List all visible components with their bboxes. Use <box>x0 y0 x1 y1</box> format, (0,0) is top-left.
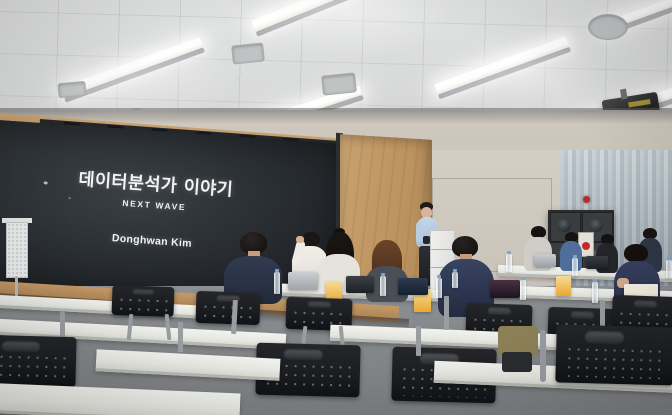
ceiling-speaker <box>588 14 628 40</box>
water-bottle <box>506 254 512 272</box>
side-lectern <box>6 218 28 296</box>
laptop <box>534 254 556 267</box>
projector-vent <box>628 99 651 107</box>
tote-bag <box>556 276 571 296</box>
laptop <box>398 278 428 295</box>
laptop <box>288 272 318 290</box>
chair[interactable] <box>195 291 260 325</box>
attendee-hand <box>296 236 304 243</box>
water-bottle <box>520 280 526 300</box>
chair[interactable] <box>0 335 77 387</box>
water-bottle <box>274 272 280 294</box>
attendee-seated-lower-right <box>498 326 538 376</box>
water-bottle <box>592 282 598 303</box>
laptop <box>490 280 520 298</box>
fire-alarm-bell-icon <box>583 196 590 203</box>
presenter-hand-mic <box>423 236 430 244</box>
ceiling-vent <box>57 81 86 98</box>
lectern-body <box>6 222 28 278</box>
chair[interactable] <box>111 285 174 317</box>
laptop <box>346 276 374 293</box>
lectern-leg <box>15 276 18 296</box>
water-bottle <box>572 258 578 276</box>
water-bottle <box>380 276 386 296</box>
laptop <box>586 256 608 269</box>
ceiling-vent <box>231 42 265 64</box>
chair[interactable] <box>555 324 672 385</box>
water-bottle <box>666 260 672 278</box>
lecture-hall-photo: 데이터분석가 이야기 NEXT WAVE Donghwan Kim <box>0 0 672 415</box>
table-leg <box>444 296 449 330</box>
emergency-button-icon <box>582 242 590 250</box>
chair-frame <box>178 322 183 352</box>
chair-frame <box>416 326 421 356</box>
presenter-arm <box>416 222 422 242</box>
water-bottle <box>452 272 458 288</box>
chair-frame <box>540 330 546 382</box>
attendee-blue-far <box>560 232 582 272</box>
ceiling-vent <box>321 72 357 95</box>
water-bottle <box>436 278 442 298</box>
